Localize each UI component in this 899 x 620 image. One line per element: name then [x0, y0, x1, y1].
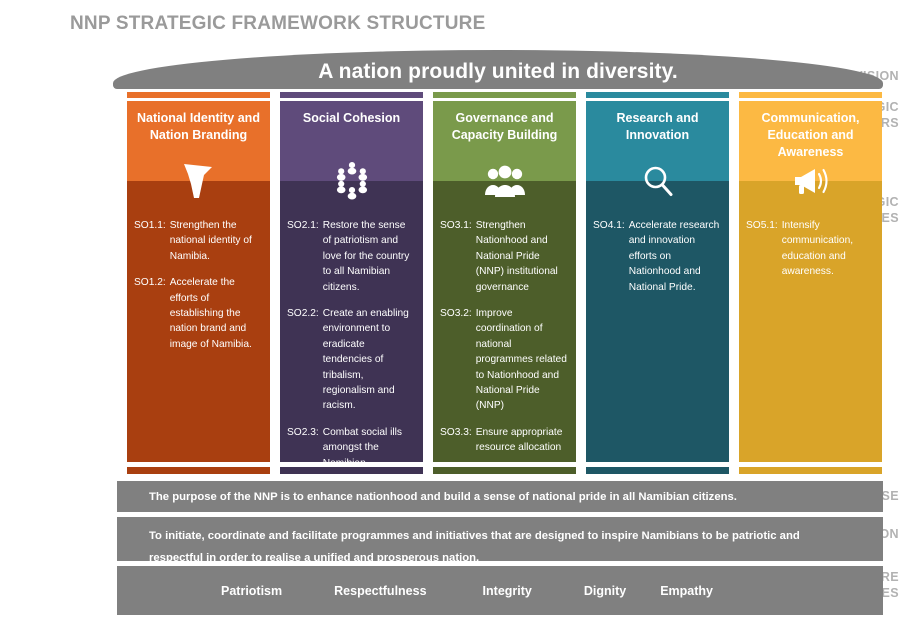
objective-item: SO5.1:Intensify communication, education… — [746, 218, 875, 280]
objective-item: SO2.2:Create an enabling environment to … — [287, 306, 416, 414]
objective-code: SO4.1: — [593, 218, 629, 295]
core-value-item: Respectfulness — [334, 584, 426, 598]
pillar-body: SO3.1:Strengthen Nationhood and National… — [433, 181, 576, 462]
objective-list: SO4.1:Accelerate research and innovation… — [586, 218, 729, 306]
objective-text: Accelerate the efforts of establishing t… — [170, 275, 263, 352]
vision-statement: A nation proudly united in diversity. — [113, 60, 883, 84]
pillar-body: SO2.1:Restore the sense of patriotism an… — [280, 181, 423, 462]
objective-code: SO2.2: — [287, 306, 323, 414]
namibia-map-icon — [171, 153, 227, 209]
objective-list: SO2.1:Restore the sense of patriotism an… — [280, 218, 423, 498]
pillar-bottom-accent-bar — [739, 467, 882, 474]
objective-text: Restore the sense of patriotism and love… — [323, 218, 416, 295]
objective-item: SO4.1:Accelerate research and innovation… — [593, 218, 722, 295]
objective-item: SO3.1:Strengthen Nationhood and National… — [440, 218, 569, 295]
objective-item: SO3.2:Improve coordination of national p… — [440, 306, 569, 414]
core-values-row: PatriotismRespectfulnessIntegrityDignity… — [117, 566, 883, 615]
objective-code: SO2.3: — [287, 425, 323, 487]
strategic-pillar[interactable]: National Identity and Nation BrandingSO1… — [127, 92, 270, 474]
group-people-icon — [477, 153, 533, 209]
core-value-item: Empathy — [660, 584, 713, 598]
mission-bar: To initiate, coordinate and facilitate p… — [117, 517, 883, 561]
objective-item: SO2.1:Restore the sense of patriotism an… — [287, 218, 416, 295]
pillar-title: Governance and Capacity Building — [433, 110, 576, 144]
objective-list: SO1.1:Strengthen the national identity o… — [127, 218, 270, 363]
strategic-pillar[interactable]: Governance and Capacity BuildingSO3.1:St… — [433, 92, 576, 474]
objective-code: SO5.1: — [746, 218, 782, 280]
pillar-bottom-accent-bar — [433, 467, 576, 474]
objective-item: SO2.3:Combat social ills amongst the Nam… — [287, 425, 416, 487]
objective-text: Strengthen Nationhood and National Pride… — [476, 218, 569, 295]
strategic-pillar[interactable]: Research and InnovationSO4.1:Accelerate … — [586, 92, 729, 474]
strategic-pillars-container: National Identity and Nation BrandingSO1… — [127, 92, 884, 474]
magnifier-icon — [630, 153, 686, 209]
strategic-pillar[interactable]: Communication, Education and AwarenessSO… — [739, 92, 882, 474]
mission-statement: To initiate, coordinate and facilitate p… — [117, 517, 883, 561]
objective-text: Ensure appropriate resource allocation — [476, 425, 569, 456]
objective-text: Accelerate research and innovation effor… — [629, 218, 722, 295]
objective-list: SO5.1:Intensify communication, education… — [739, 218, 882, 291]
objective-text: Create an enabling environment to eradic… — [323, 306, 416, 414]
pillar-body: SO4.1:Accelerate research and innovation… — [586, 181, 729, 462]
purpose-statement: The purpose of the NNP is to enhance nat… — [117, 481, 883, 505]
pillar-title: Research and Innovation — [586, 110, 729, 144]
objective-text: Combat social ills amongst the Namibian … — [323, 425, 416, 487]
objective-text: Improve coordination of national program… — [476, 306, 569, 414]
objective-code: SO1.2: — [134, 275, 170, 352]
objective-code: SO1.1: — [134, 218, 170, 264]
pillar-title: Social Cohesion — [297, 110, 406, 127]
objective-text: Intensify communication, education and a… — [782, 218, 875, 280]
objective-code: SO3.2: — [440, 306, 476, 414]
objective-code: SO2.1: — [287, 218, 323, 295]
objective-item: SO1.2:Accelerate the efforts of establis… — [134, 275, 263, 352]
strategic-pillar[interactable]: Social CohesionSO2.1:Restore the sense o… — [280, 92, 423, 474]
page-title: NNP STRATEGIC FRAMEWORK STRUCTURE — [70, 13, 485, 35]
pillar-body: SO1.1:Strengthen the national identity o… — [127, 181, 270, 462]
objective-item: SO3.3:Ensure appropriate resource alloca… — [440, 425, 569, 456]
pillar-top-accent-bar — [586, 92, 729, 98]
pillar-top-accent-bar — [739, 92, 882, 98]
pillar-bottom-accent-bar — [127, 467, 270, 474]
megaphone-icon — [783, 153, 839, 209]
objective-code: SO3.1: — [440, 218, 476, 295]
objective-list: SO3.1:Strengthen Nationhood and National… — [433, 218, 576, 467]
core-value-item: Integrity — [483, 584, 532, 598]
core-values-bar: PatriotismRespectfulnessIntegrityDignity… — [117, 566, 883, 615]
pillar-top-accent-bar — [433, 92, 576, 98]
pillar-title: National Identity and Nation Branding — [127, 110, 270, 144]
pillar-bottom-accent-bar — [280, 467, 423, 474]
purpose-bar: The purpose of the NNP is to enhance nat… — [117, 481, 883, 512]
vision-banner: A nation proudly united in diversity. — [113, 50, 883, 89]
core-value-item: Patriotism — [221, 584, 282, 598]
objective-text: Strengthen the national identity of Nami… — [170, 218, 263, 264]
people-circle-icon — [324, 153, 380, 209]
pillar-body: SO5.1:Intensify communication, education… — [739, 181, 882, 462]
pillar-top-accent-bar — [280, 92, 423, 98]
pillar-bottom-accent-bar — [586, 467, 729, 474]
objective-code: SO3.3: — [440, 425, 476, 456]
objective-item: SO1.1:Strengthen the national identity o… — [134, 218, 263, 264]
pillar-top-accent-bar — [127, 92, 270, 98]
core-value-item: Dignity — [584, 584, 626, 598]
